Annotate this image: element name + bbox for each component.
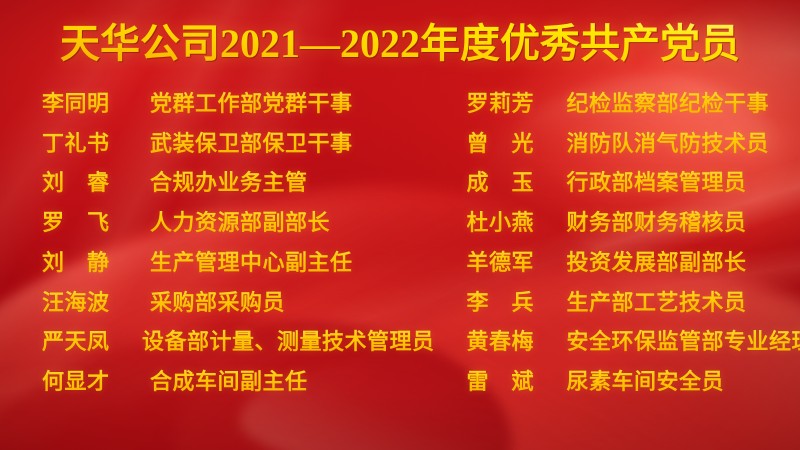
honoree-name-text: 杜小燕 xyxy=(467,205,535,237)
honoree-gender-mark: (女) xyxy=(111,257,129,273)
honoree-role: 尿素车间安全员 xyxy=(567,364,725,396)
honoree-name-text: 成 玉 xyxy=(467,165,535,197)
honoree-row: 罗莉芳(女)纪检监察部纪检干事 xyxy=(467,82,800,122)
honoree-role: 人力资源部副部长 xyxy=(150,205,330,237)
honoree-name: 刘 静(女) xyxy=(42,245,150,277)
honoree-name: 严天凤(女) xyxy=(42,324,142,356)
honoree-role: 投资发展部副部长 xyxy=(567,245,747,277)
honoree-row: 雷 斌尿素车间安全员 xyxy=(467,360,800,400)
honoree-role: 生产部工艺技术员 xyxy=(567,285,747,317)
honoree-name: 杜小燕(女) xyxy=(467,205,567,237)
honoree-name-text: 汪海波 xyxy=(42,285,110,317)
honoree-role: 合规办业务主管 xyxy=(150,165,308,197)
honoree-name: 李 兵 xyxy=(467,285,567,317)
honoree-role: 设备部计量、测量技术管理员 xyxy=(142,324,435,356)
honoree-name: 李同明 xyxy=(42,86,150,118)
honoree-name: 雷 斌 xyxy=(467,364,567,396)
honoree-row: 成 玉(女)行政部档案管理员 xyxy=(467,162,800,202)
honoree-row: 曾 光消防队消气防技术员 xyxy=(467,122,800,162)
honoree-name-text: 丁礼书 xyxy=(42,126,110,158)
honoree-gender-mark: (女) xyxy=(111,336,129,352)
honoree-row: 李同明党群工作部党群干事 xyxy=(42,82,435,122)
poster-content: 天华公司2021—2022年度优秀共产党员 李同明党群工作部党群干事丁礼书武装保… xyxy=(0,0,800,450)
honoree-row: 刘 静(女)生产管理中心副主任 xyxy=(42,241,435,281)
honoree-role: 采购部采购员 xyxy=(150,285,285,317)
honoree-name-text: 何显才 xyxy=(42,364,110,396)
honoree-name: 汪海波 xyxy=(42,285,150,317)
honoree-column-left: 李同明党群工作部党群干事丁礼书武装保卫部保卫干事刘 睿(女)合规办业务主管罗 飞… xyxy=(0,82,435,400)
honoree-role: 纪检监察部纪检干事 xyxy=(567,86,770,118)
honoree-name-text: 罗 飞 xyxy=(42,205,110,237)
honoree-role: 行政部档案管理员 xyxy=(567,165,747,197)
honoree-name: 黄春梅(女) xyxy=(467,324,567,356)
honoree-name: 何显才 xyxy=(42,364,150,396)
honoree-role: 生产管理中心副主任 xyxy=(150,245,353,277)
honoree-name-text: 刘 静 xyxy=(42,245,110,277)
honoree-role: 财务部财务稽核员 xyxy=(567,205,747,237)
honoree-name-text: 罗莉芳 xyxy=(467,86,535,118)
honoree-name: 丁礼书 xyxy=(42,126,150,158)
honoree-name: 罗莉芳(女) xyxy=(467,86,567,118)
honoree-row: 罗 飞人力资源部副部长 xyxy=(42,201,435,241)
honoree-row: 汪海波采购部采购员 xyxy=(42,281,435,321)
honoree-name-text: 羊德军 xyxy=(467,245,535,277)
honoree-gender-mark: (女) xyxy=(535,98,553,114)
honoree-role: 党群工作部党群干事 xyxy=(150,86,353,118)
honoree-row: 刘 睿(女)合规办业务主管 xyxy=(42,162,435,202)
honoree-row: 丁礼书武装保卫部保卫干事 xyxy=(42,122,435,162)
honoree-name-text: 雷 斌 xyxy=(467,364,535,396)
honoree-name-text: 严天凤 xyxy=(42,324,110,356)
honoree-role: 消防队消气防技术员 xyxy=(567,126,770,158)
honoree-name: 罗 飞 xyxy=(42,205,150,237)
honoree-name-text: 李 兵 xyxy=(467,285,535,317)
honoree-name-text: 黄春梅 xyxy=(467,324,535,356)
honoree-name: 曾 光 xyxy=(467,126,567,158)
honoree-role: 武装保卫部保卫干事 xyxy=(150,126,353,158)
honoree-name: 成 玉(女) xyxy=(467,165,567,197)
honor-roll-poster: 天华公司2021—2022年度优秀共产党员 李同明党群工作部党群干事丁礼书武装保… xyxy=(0,0,800,450)
honoree-role: 安全环保监管部专业经理 xyxy=(567,324,800,356)
honoree-row: 羊德军投资发展部副部长 xyxy=(467,241,800,281)
honoree-gender-mark: (女) xyxy=(535,177,553,193)
honoree-columns: 李同明党群工作部党群干事丁礼书武装保卫部保卫干事刘 睿(女)合规办业务主管罗 飞… xyxy=(0,82,800,400)
honoree-role: 合成车间副主任 xyxy=(150,364,308,396)
honoree-row: 李 兵生产部工艺技术员 xyxy=(467,281,800,321)
honoree-row: 严天凤(女)设备部计量、测量技术管理员 xyxy=(42,321,435,361)
honoree-name-text: 曾 光 xyxy=(467,126,535,158)
honoree-gender-mark: (女) xyxy=(535,336,553,352)
honoree-gender-mark: (女) xyxy=(111,177,129,193)
honoree-gender-mark: (女) xyxy=(535,217,553,233)
page-title: 天华公司2021—2022年度优秀共产党员 xyxy=(0,18,800,70)
honoree-name-text: 刘 睿 xyxy=(42,165,110,197)
honoree-row: 黄春梅(女)安全环保监管部专业经理 xyxy=(467,321,800,361)
honoree-name-text: 李同明 xyxy=(42,86,110,118)
honoree-name: 刘 睿(女) xyxy=(42,165,150,197)
honoree-row: 何显才合成车间副主任 xyxy=(42,360,435,400)
honoree-row: 杜小燕(女)财务部财务稽核员 xyxy=(467,201,800,241)
honoree-column-right: 罗莉芳(女)纪检监察部纪检干事曾 光消防队消气防技术员成 玉(女)行政部档案管理… xyxy=(435,82,800,400)
honoree-name: 羊德军 xyxy=(467,245,567,277)
